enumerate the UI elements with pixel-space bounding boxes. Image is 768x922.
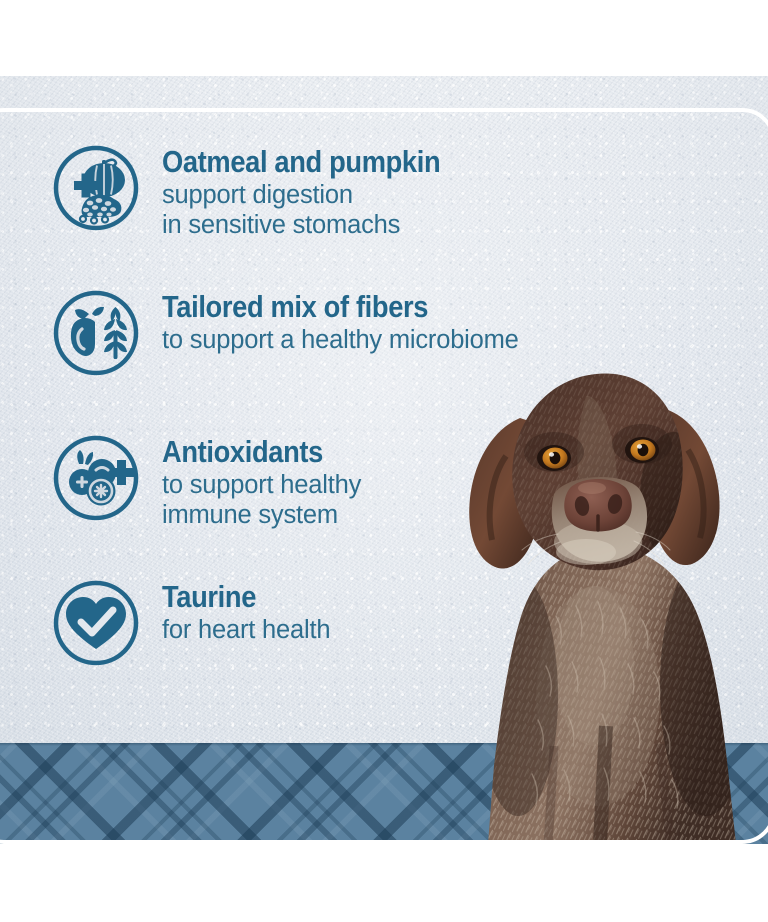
feature-text: Antioxidants to support healthy immune s… bbox=[162, 434, 361, 530]
feature-item-antioxidants: Antioxidants to support healthy immune s… bbox=[52, 434, 361, 530]
berries-plus-icon bbox=[52, 434, 140, 522]
promo-panel: Oatmeal and pumpkin support digestion in… bbox=[0, 76, 768, 844]
feature-text: Oatmeal and pumpkin support digestion in… bbox=[162, 144, 478, 240]
feature-subtitle: to support healthy immune system bbox=[162, 470, 361, 530]
feature-item-oatmeal-pumpkin: Oatmeal and pumpkin support digestion in… bbox=[52, 144, 478, 240]
feature-title: Oatmeal and pumpkin bbox=[162, 146, 440, 178]
feature-subtitle: to support a healthy microbiome bbox=[162, 325, 519, 355]
top-white-margin bbox=[0, 0, 768, 76]
pumpkin-oats-plus-icon bbox=[52, 144, 140, 232]
feature-subtitle: for heart health bbox=[162, 615, 330, 645]
feature-item-fibers: Tailored mix of fibers to support a heal… bbox=[52, 289, 519, 377]
apple-grain-icon bbox=[52, 289, 140, 377]
bottom-white-margin bbox=[0, 844, 768, 922]
feature-item-taurine: Taurine for heart health bbox=[52, 579, 330, 667]
feature-subtitle: support digestion in sensitive stomachs bbox=[162, 180, 478, 240]
feature-title: Taurine bbox=[162, 581, 310, 613]
heart-check-icon bbox=[52, 579, 140, 667]
feature-title: Tailored mix of fibers bbox=[162, 291, 476, 323]
feature-title: Antioxidants bbox=[162, 436, 337, 468]
feature-text: Taurine for heart health bbox=[162, 579, 330, 645]
feature-text: Tailored mix of fibers to support a heal… bbox=[162, 289, 519, 355]
feature-list: Oatmeal and pumpkin support digestion in… bbox=[0, 76, 768, 844]
